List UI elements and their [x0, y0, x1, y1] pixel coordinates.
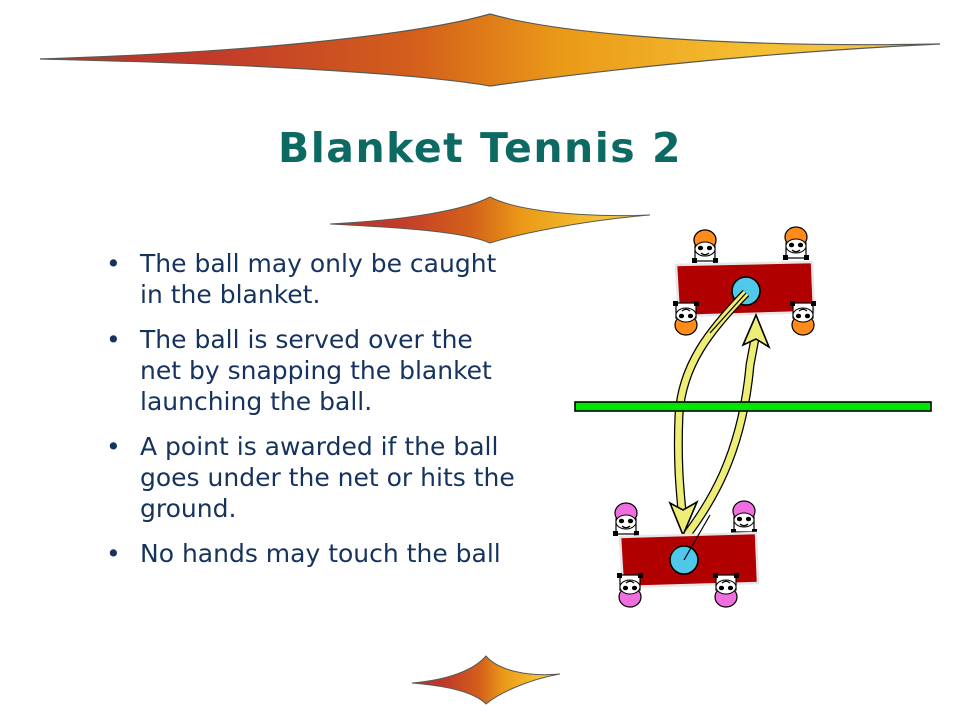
page-title: Blanket Tennis 2 [0, 124, 960, 172]
player-figure [713, 573, 739, 607]
far-team-group [673, 227, 816, 335]
bullet-icon: • [96, 538, 140, 569]
list-item: • A point is awarded if the ball goes un… [96, 431, 516, 524]
list-item: • The ball is served over the net by sna… [96, 324, 516, 417]
net-line [575, 402, 931, 411]
player-figure [692, 230, 718, 263]
ornament-bottom [412, 652, 560, 708]
player-figure [617, 573, 643, 607]
list-item: • The ball may only be caught in the bla… [96, 248, 516, 310]
list-item-label: A point is awarded if the ball goes unde… [140, 431, 516, 524]
bullet-icon: • [96, 248, 140, 279]
bullet-list: • The ball may only be caught in the bla… [96, 248, 516, 583]
list-item-label: The ball may only be caught in the blank… [140, 248, 516, 310]
bullet-icon: • [96, 324, 140, 355]
player-figure [790, 301, 816, 335]
player-figure [731, 501, 757, 534]
ornament-top [40, 4, 940, 94]
list-item-label: No hands may touch the ball [140, 538, 516, 569]
slide-canvas: Blanket Tennis 2 • The ball may only be … [0, 0, 960, 720]
blanket-tennis-illustration [560, 215, 940, 635]
player-figure [783, 227, 809, 260]
list-item-label: The ball is served over the net by snapp… [140, 324, 516, 417]
player-figure [673, 301, 699, 335]
bullet-icon: • [96, 431, 140, 462]
player-figure [613, 503, 639, 536]
list-item: • No hands may touch the ball [96, 538, 516, 569]
